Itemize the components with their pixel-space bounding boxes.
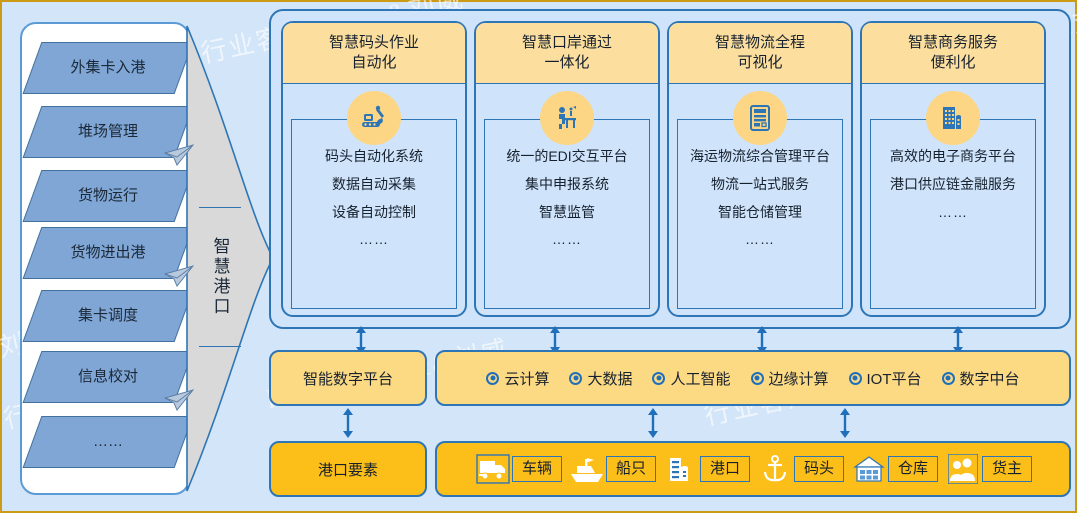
card-body: 码头自动化系统 数据自动采集 设备自动控制 …… — [291, 119, 457, 309]
list-item-label: …… — [32, 416, 184, 468]
digital-platform-box[interactable]: 智能数字平台 — [269, 350, 427, 406]
card-item: 集中申报系统 — [485, 176, 649, 193]
list-item[interactable]: …… — [32, 416, 184, 468]
asset-wharf[interactable]: 码头 — [756, 452, 844, 486]
card-item: 港口供应链金融服务 — [871, 176, 1035, 193]
list-item-label: 货物进出港 — [32, 227, 184, 279]
asset-port[interactable]: 港口 — [662, 452, 750, 486]
bullseye-icon — [652, 372, 665, 385]
arrow-up-down — [340, 408, 356, 438]
technology-list: 云计算 大数据 人工智能 边缘计算 IOT平台 数字中台 — [470, 368, 1035, 389]
card-title-line1: 智慧口岸通过 — [522, 34, 612, 51]
tech-label: 大数据 — [587, 368, 632, 389]
list-item-label: 堆场管理 — [32, 106, 184, 158]
bullseye-icon — [569, 372, 582, 385]
capability-card-logistics-visibility[interactable]: 智慧物流全程可视化 海运物流综合管理平台 物流一站式服务 智能仓储管理 …… — [667, 21, 853, 317]
card-ellipsis: …… — [871, 204, 1035, 221]
paper-plane-icon — [164, 389, 194, 411]
arrow-up-down — [837, 408, 853, 438]
paper-plane-icon — [164, 144, 194, 166]
card-item: 高效的电子商务平台 — [871, 148, 1035, 165]
card-title-line2: 自动化 — [351, 54, 396, 71]
bullseye-icon — [849, 372, 862, 385]
tech-label: IOT平台 — [867, 368, 922, 389]
ship-icon — [568, 452, 606, 486]
list-item[interactable]: 集卡调度 — [32, 290, 184, 342]
asset-warehouse[interactable]: 仓库 — [850, 452, 938, 486]
excavator-icon — [347, 91, 401, 145]
asset-list: 车辆 船只 — [462, 452, 1044, 486]
capability-card-port-clearance[interactable]: 智慧口岸通过一体化 统一的EDI交互平台 集中申报系统 智慧监 — [474, 21, 660, 317]
anchor-icon — [756, 452, 794, 486]
capability-card-terminal-automation[interactable]: 智慧码头作业自动化 码头自动化系统 数据自动采集 设备自动控制 — [281, 21, 467, 317]
warehouse-icon — [850, 452, 888, 486]
tech-label: 人工智能 — [670, 368, 730, 389]
smart-port-capabilities-container: 智慧码头作业自动化 码头自动化系统 数据自动采集 设备自动控制 — [269, 9, 1071, 329]
tech-item-edge[interactable]: 边缘计算 — [751, 368, 829, 389]
port-assets-box: 车辆 船只 — [435, 441, 1071, 497]
truck-icon — [474, 452, 512, 486]
capability-card-business-service[interactable]: 智慧商务服务便利化 高效的电子商务平台 港口供应链金融服务 — [860, 21, 1046, 317]
card-title: 智慧物流全程可视化 — [668, 22, 852, 84]
list-item[interactable]: 货物运行 — [32, 170, 184, 222]
card-title-line2: 可视化 — [737, 54, 782, 71]
card-ellipsis: …… — [485, 231, 649, 248]
connector-label: 智慧港口 — [199, 207, 241, 347]
card-title-line1: 智慧商务服务 — [908, 34, 998, 51]
card-title-line2: 一体化 — [544, 54, 589, 71]
list-item-label: 信息校对 — [32, 351, 184, 403]
card-item: 智能仓储管理 — [678, 204, 842, 221]
card-item: 海运物流综合管理平台 — [678, 148, 842, 165]
list-item[interactable]: 货物进出港 — [32, 227, 184, 279]
list-item[interactable]: 外集卡入港 — [32, 42, 184, 94]
card-body: 统一的EDI交互平台 集中申报系统 智慧监管 …… — [484, 119, 650, 309]
people-icon — [944, 452, 982, 486]
tech-item-iot[interactable]: IOT平台 — [849, 368, 922, 389]
list-item-label: 集卡调度 — [32, 290, 184, 342]
tech-item-cloud[interactable]: 云计算 — [486, 368, 549, 389]
list-item[interactable]: 堆场管理 — [32, 106, 184, 158]
card-item: 码头自动化系统 — [292, 148, 456, 165]
asset-ship[interactable]: 船只 — [568, 452, 656, 486]
tech-label: 数字中台 — [960, 368, 1020, 389]
card-title: 智慧口岸通过一体化 — [475, 22, 659, 84]
officer-desk-icon — [540, 91, 594, 145]
port-elements-box[interactable]: 港口要素 — [269, 441, 427, 497]
tech-label: 边缘计算 — [769, 368, 829, 389]
diagram-root: 行业客户中心&&刘威 liuwei.local&&刘威 行业客户中心&& 刘威 … — [0, 0, 1077, 513]
tech-label: 云计算 — [504, 368, 549, 389]
asset-label: 仓库 — [888, 456, 938, 483]
digital-platform-label: 智能数字平台 — [303, 368, 393, 389]
tech-item-ai[interactable]: 人工智能 — [652, 368, 730, 389]
list-item-label: 货物运行 — [32, 170, 184, 222]
document-list-icon — [733, 91, 787, 145]
asset-cargo-owner[interactable]: 货主 — [944, 452, 1032, 486]
buildings-icon — [926, 91, 980, 145]
card-ellipsis: …… — [678, 231, 842, 248]
card-item: 智慧监管 — [485, 204, 649, 221]
smart-port-connector: 智慧港口 — [185, 22, 281, 495]
arrow-up-down — [645, 408, 661, 438]
tech-item-midend[interactable]: 数字中台 — [942, 368, 1020, 389]
card-title: 智慧商务服务便利化 — [861, 22, 1045, 84]
card-body: 海运物流综合管理平台 物流一站式服务 智能仓储管理 …… — [677, 119, 843, 309]
card-title: 智慧码头作业自动化 — [282, 22, 466, 84]
asset-label: 码头 — [794, 456, 844, 483]
card-item: 设备自动控制 — [292, 204, 456, 221]
list-item[interactable]: 信息校对 — [32, 351, 184, 403]
asset-label: 车辆 — [512, 456, 562, 483]
asset-vehicle[interactable]: 车辆 — [474, 452, 562, 486]
bullseye-icon — [942, 372, 955, 385]
card-item: 统一的EDI交互平台 — [485, 148, 649, 165]
asset-label: 港口 — [700, 456, 750, 483]
card-title-line2: 便利化 — [930, 54, 975, 71]
port-building-icon — [662, 452, 700, 486]
bullseye-icon — [751, 372, 764, 385]
card-item: 数据自动采集 — [292, 176, 456, 193]
technology-stack-box: 云计算 大数据 人工智能 边缘计算 IOT平台 数字中台 — [435, 350, 1071, 406]
card-title-line1: 智慧码头作业 — [329, 34, 419, 51]
asset-label: 船只 — [606, 456, 656, 483]
port-business-flow-panel: 外集卡入港 堆场管理 货物运行 货物进出港 集卡调度 — [20, 22, 190, 495]
card-item: 物流一站式服务 — [678, 176, 842, 193]
port-elements-label: 港口要素 — [318, 459, 378, 480]
tech-item-bigdata[interactable]: 大数据 — [569, 368, 632, 389]
card-title-line1: 智慧物流全程 — [715, 34, 805, 51]
list-item-label: 外集卡入港 — [32, 42, 184, 94]
card-ellipsis: …… — [292, 231, 456, 248]
paper-plane-icon — [164, 265, 194, 287]
card-body: 高效的电子商务平台 港口供应链金融服务 …… — [870, 119, 1036, 309]
bullseye-icon — [486, 372, 499, 385]
asset-label: 货主 — [982, 456, 1032, 483]
